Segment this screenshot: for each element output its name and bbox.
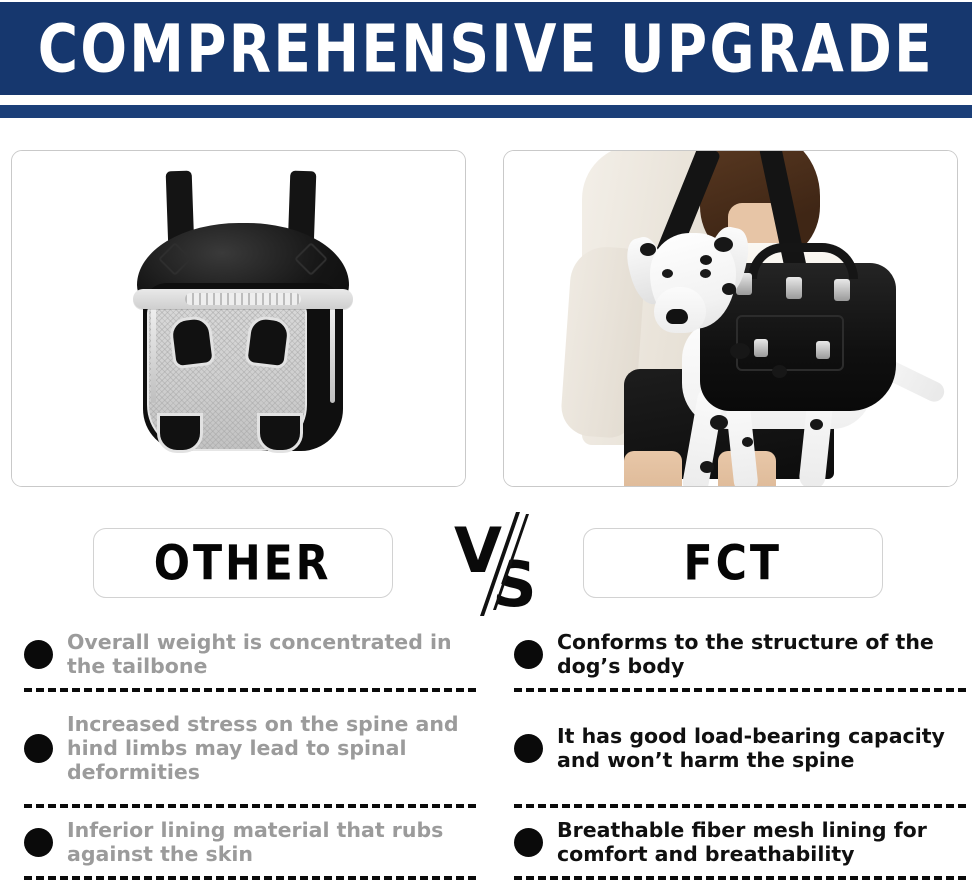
carrier-top-handle (748, 243, 858, 279)
header-accent-stripe (0, 105, 972, 118)
dashed-divider (514, 876, 966, 880)
bullet-dot-icon (514, 734, 543, 763)
list-item-text: Breathable fiber mesh lining for comfort… (557, 818, 962, 866)
header-banner: COMPREHENSIVE UPGRADE (0, 2, 972, 95)
carrier-front-leg-hole-right (244, 315, 292, 370)
list-item-text: Inferior lining material that rubs again… (67, 818, 472, 866)
dog-spot (772, 365, 787, 378)
person-leg-left (624, 451, 682, 486)
bullet-dot-icon (24, 640, 53, 669)
dashed-divider (24, 876, 476, 880)
list-item: It has good load-bearing capacity and wo… (514, 692, 966, 804)
carrier-front-leg-hole-left (168, 315, 216, 370)
other-comparison-column: Overall weight is concentrated in the ta… (24, 620, 476, 880)
other-brand-label: OTHER (154, 535, 332, 591)
dog-spot (810, 419, 823, 430)
list-item-text: Overall weight is concentrated in the ta… (67, 630, 472, 678)
dog-spot (710, 415, 728, 430)
dog-spot (700, 461, 714, 473)
carrier-zipper-left (151, 307, 156, 403)
carrier-elastic-band (133, 289, 353, 309)
dog-spot (722, 283, 736, 295)
list-item: Breathable fiber mesh lining for comfort… (514, 808, 966, 876)
bullet-dot-icon (24, 828, 53, 857)
dog-spot (714, 237, 733, 252)
carrier-back-leg-hole-right (257, 413, 303, 453)
dog-eye-left (662, 269, 673, 278)
dog-nose (666, 309, 688, 324)
page-title: COMPREHENSIVE UPGRADE (38, 15, 934, 82)
fct-comparison-column: Conforms to the structure of the dog’s b… (514, 620, 966, 880)
fct-product-photo (504, 151, 957, 486)
list-item: Conforms to the structure of the dog’s b… (514, 620, 966, 688)
carrier-zipper-right (330, 307, 335, 403)
dog-spot (742, 437, 753, 447)
dog-spot (700, 255, 712, 265)
dog-spot (640, 243, 656, 256)
bullet-dot-icon (514, 640, 543, 669)
versus-labels-row: OTHER V S FCT (0, 528, 972, 598)
list-item-text: It has good load-bearing capacity and wo… (557, 724, 962, 772)
fct-brand-label: FCT (684, 535, 782, 591)
fct-product-photo-card (503, 150, 958, 487)
carrier-buckle (834, 279, 850, 301)
dog-spot (730, 343, 750, 359)
carrier-buckle (816, 341, 830, 359)
list-item-text: Increased stress on the spine and hind l… (67, 712, 472, 784)
versus-icon: V S (452, 510, 548, 618)
list-item: Overall weight is concentrated in the ta… (24, 620, 476, 688)
product-photos-row (0, 150, 972, 495)
carrier-back-leg-hole-left (157, 413, 203, 453)
bullet-dot-icon (514, 828, 543, 857)
mesh-pet-carrier-illustration (127, 171, 359, 461)
list-item-text: Conforms to the structure of the dog’s b… (557, 630, 962, 678)
list-item: Increased stress on the spine and hind l… (24, 692, 476, 804)
dog-eye-right (700, 269, 711, 278)
bullet-dot-icon (24, 734, 53, 763)
list-item: Inferior lining material that rubs again… (24, 808, 476, 876)
other-product-photo (12, 151, 465, 486)
carrier-buckle (754, 339, 768, 357)
dog-carrier-scene-illustration (504, 151, 957, 486)
fct-brand-pill: FCT (583, 528, 883, 598)
carrier-buckle (786, 277, 802, 299)
other-brand-pill: OTHER (93, 528, 393, 598)
comparison-section: Overall weight is concentrated in the ta… (0, 620, 972, 892)
infographic-page: COMPREHENSIVE UPGRADE (0, 0, 972, 892)
other-product-photo-card (11, 150, 466, 487)
